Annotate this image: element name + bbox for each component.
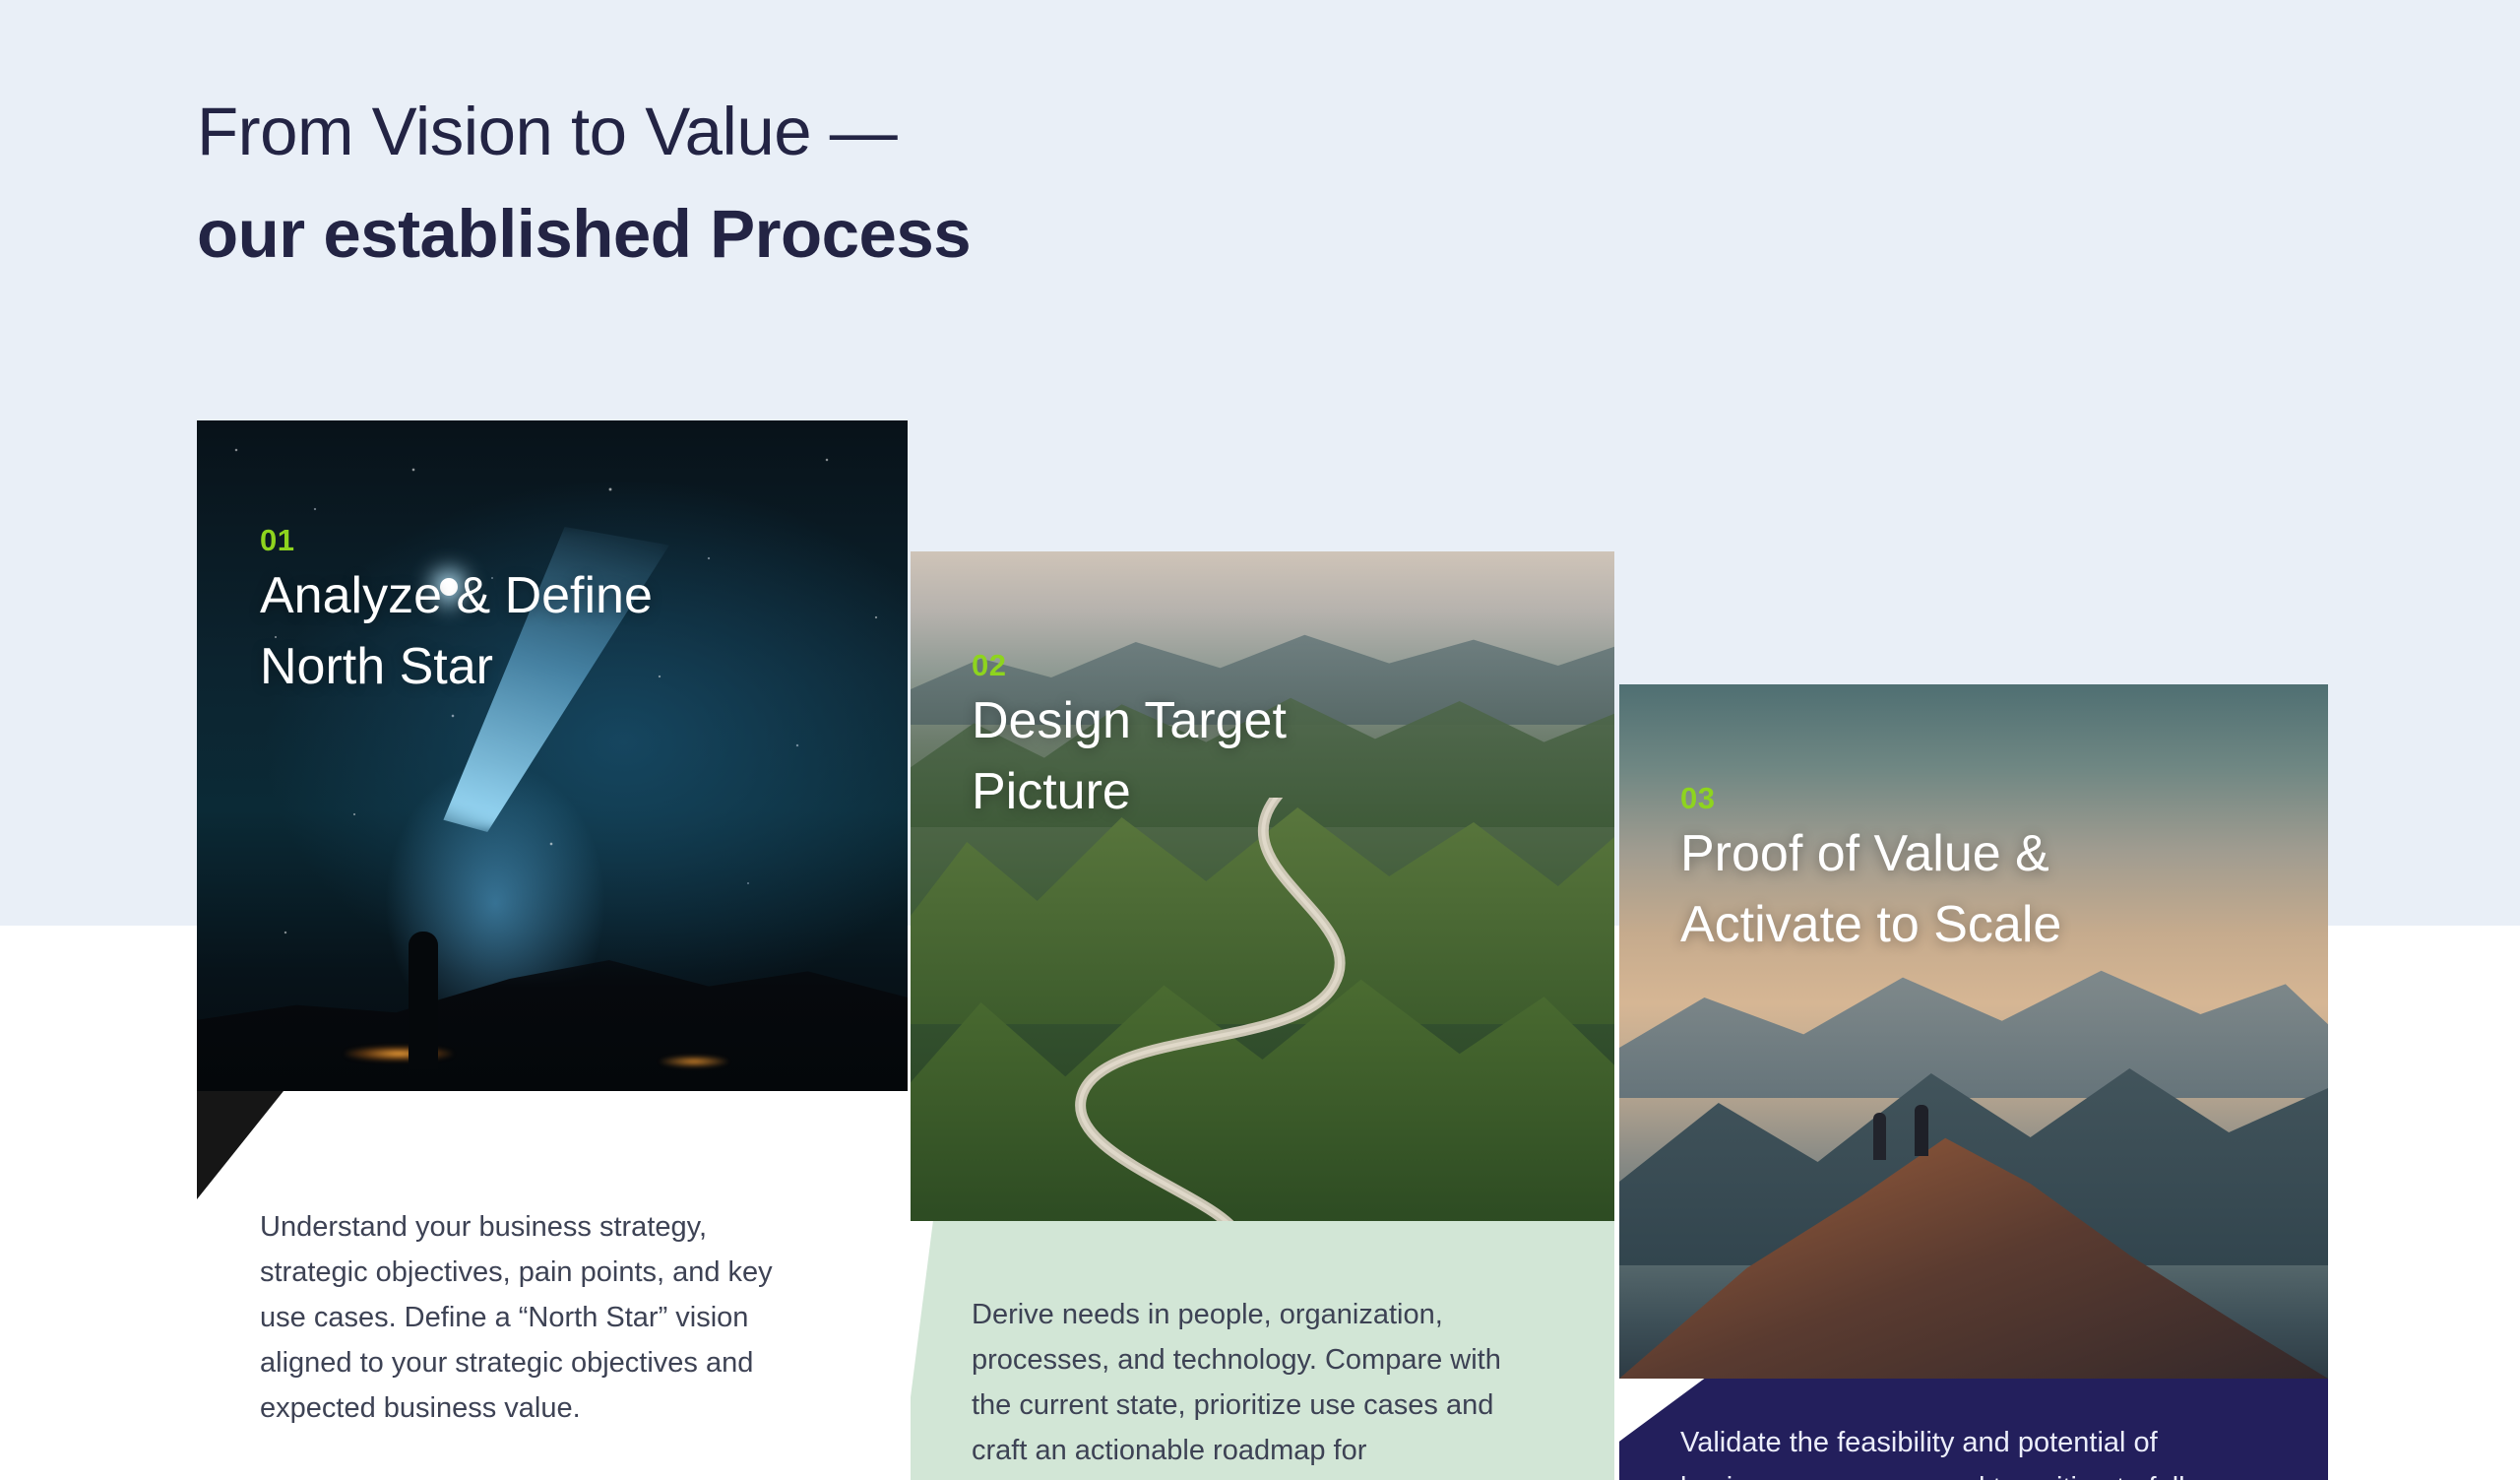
page-title: From Vision to Value — our established P… <box>197 81 971 286</box>
stargazer-figure-decoration <box>409 932 438 1069</box>
process-card-2-title: Design Target Picture <box>972 685 1287 827</box>
winding-road-decoration <box>911 798 1614 1221</box>
process-card-1-title: Analyze & Define North Star <box>260 560 653 702</box>
process-card-3-number: 03 <box>1680 783 1715 813</box>
process-card-3-body: Validate the feasibility and potential o… <box>1680 1420 2291 1480</box>
process-card-2-number: 02 <box>972 650 1006 680</box>
process-card-1-body: Understand your business strategy, strat… <box>260 1204 850 1431</box>
process-card-1-image <box>197 420 908 1091</box>
process-card-3-title: Proof of Value & Activate to Scale <box>1680 818 2061 960</box>
process-card-3-panel: Validate the feasibility and potential o… <box>1619 1379 2328 1480</box>
process-card-2[interactable]: 02 Design Target Picture Derive needs in… <box>911 551 1614 1480</box>
process-card-2-image <box>911 551 1614 1221</box>
process-card-1[interactable]: 01 Analyze & Define North Star Understan… <box>197 420 908 1480</box>
town-glow-secondary-decoration <box>660 1056 728 1067</box>
process-card-2-panel: Derive needs in people, organization, pr… <box>911 1221 1614 1480</box>
process-card-1-number: 01 <box>260 525 294 555</box>
process-card-1-panel: Understand your business strategy, strat… <box>197 1091 908 1480</box>
hiker-figure-one-decoration <box>1873 1113 1886 1160</box>
process-card-2-body: Derive needs in people, organization, pr… <box>972 1292 1562 1480</box>
process-card-3[interactable]: 03 Proof of Value & Activate to Scale Va… <box>1619 684 2328 1480</box>
page-title-line-1: From Vision to Value — <box>197 81 971 183</box>
hiker-figure-two-decoration <box>1915 1105 1928 1156</box>
page-title-line-2: our established Process <box>197 183 971 286</box>
process-card-3-image <box>1619 684 2328 1379</box>
